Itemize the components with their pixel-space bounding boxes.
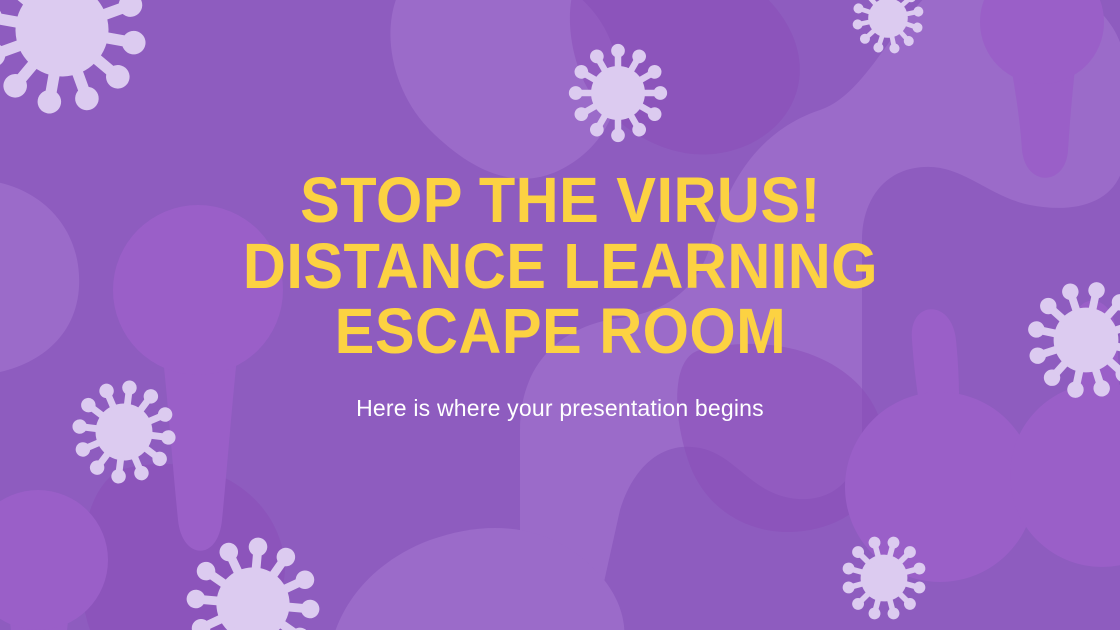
presentation-slide: STOP THE VIRUS! DISTANCE LEARNING ESCAPE…: [0, 0, 1120, 630]
slide-subtitle: Here is where your presentation begins: [219, 395, 902, 422]
slide-content: STOP THE VIRUS! DISTANCE LEARNING ESCAPE…: [0, 0, 1120, 630]
slide-title: STOP THE VIRUS! DISTANCE LEARNING ESCAPE…: [242, 168, 877, 366]
title-block: STOP THE VIRUS! DISTANCE LEARNING ESCAPE…: [219, 168, 902, 423]
